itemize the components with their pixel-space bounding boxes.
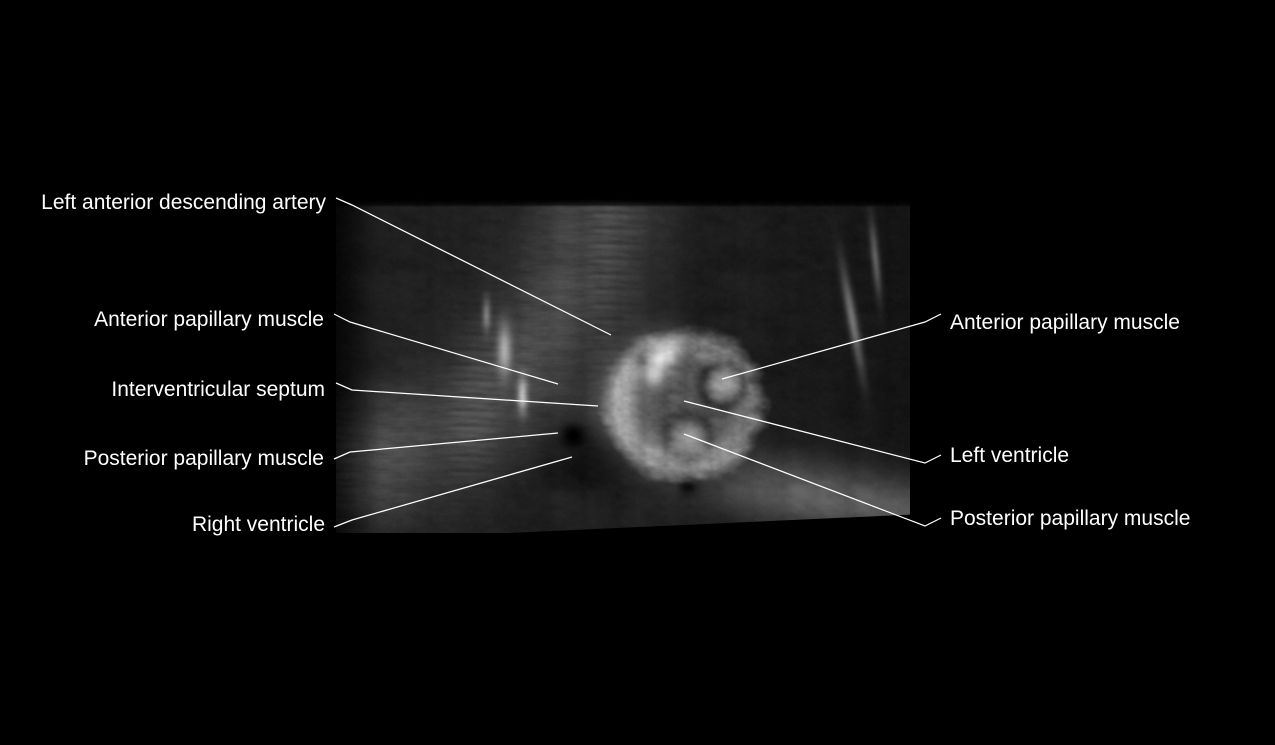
label-text: Anterior papillary muscle: [950, 311, 1180, 334]
label-posterior-papillary-muscle-left: Posterior papillary muscle: [0, 448, 324, 469]
label-anterior-papillary-muscle-right: Anterior papillary muscle: [950, 312, 1180, 333]
label-text: Posterior papillary muscle: [950, 507, 1190, 530]
label-left-anterior-descending-artery: Left anterior descending artery: [0, 192, 326, 213]
label-text: Interventricular septum: [111, 378, 325, 401]
label-anterior-papillary-muscle-left: Anterior papillary muscle: [0, 309, 324, 330]
mri-raster: [336, 199, 910, 533]
label-left-ventricle: Left ventricle: [950, 445, 1069, 466]
label-interventricular-septum: Interventricular septum: [0, 379, 325, 400]
label-text: Left anterior descending artery: [41, 191, 326, 214]
label-text: Right ventricle: [192, 513, 325, 536]
label-text: Left ventricle: [950, 444, 1069, 467]
label-posterior-papillary-muscle-right: Posterior papillary muscle: [950, 508, 1190, 529]
annotated-mri-figure: Left anterior descending artery Anterior…: [0, 0, 1275, 745]
label-text: Posterior papillary muscle: [84, 447, 324, 470]
cardiac-mri-image: [336, 199, 910, 533]
label-text: Anterior papillary muscle: [94, 308, 324, 331]
label-right-ventricle: Right ventricle: [0, 514, 325, 535]
